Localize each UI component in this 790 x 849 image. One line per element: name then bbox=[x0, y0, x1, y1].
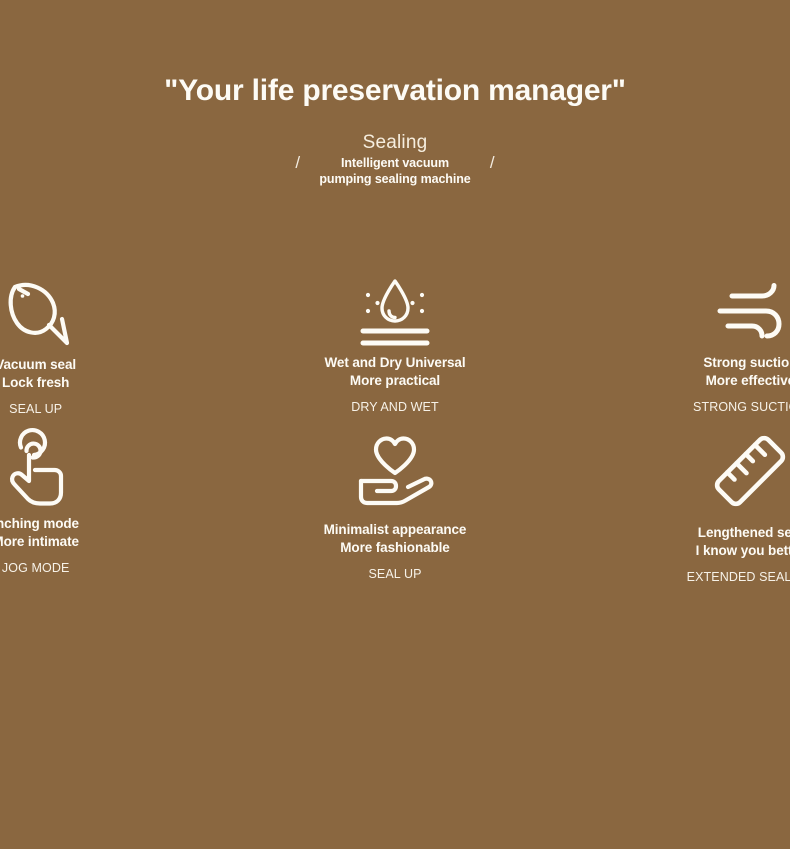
heart-in-hand-icon bbox=[351, 427, 439, 515]
fish-icon bbox=[0, 268, 80, 356]
feature-subtitle: EXTENDED SEALING bbox=[687, 570, 790, 585]
feature-item-lengthened-seal: Lengthened seal I know you better EXTEND… bbox=[619, 427, 790, 585]
feature-item-inching-mode: Inching mode More intimate JOG MODE bbox=[0, 427, 167, 585]
feature-title-line-1: Lengthened seal bbox=[698, 524, 790, 542]
water-droplet-icon bbox=[351, 268, 439, 356]
feature-item-vacuum-seal: Vacuum seal Lock fresh SEAL UP bbox=[0, 268, 167, 417]
feature-caption: Lengthened seal I know you better EXTEND… bbox=[687, 524, 790, 585]
feature-title-line-2: More effective bbox=[706, 372, 790, 390]
subtitle-block: / Sealing Intelligent vacuum pumping sea… bbox=[273, 131, 516, 188]
feature-title-line-1: Wet and Dry Universal bbox=[325, 354, 466, 372]
feature-caption: Vacuum seal Lock fresh SEAL UP bbox=[0, 356, 76, 417]
feature-caption: Wet and Dry Universal More practical DRY… bbox=[325, 354, 466, 415]
sealing-word: Sealing bbox=[319, 131, 470, 155]
feature-subtitle: SEAL UP bbox=[9, 402, 62, 417]
feature-title-line-2: More fashionable bbox=[340, 539, 449, 557]
feature-title-line-1: Minimalist appearance bbox=[324, 521, 467, 539]
feature-subtitle: SEAL UP bbox=[368, 567, 421, 582]
ruler-icon bbox=[706, 427, 790, 515]
feature-row-1: Vacuum seal Lock fresh SEAL UP bbox=[0, 268, 790, 417]
feature-title-line-1: Inching mode bbox=[0, 515, 79, 533]
feature-title-line-2: Lock fresh bbox=[2, 374, 69, 392]
feature-grid: Vacuum seal Lock fresh SEAL UP bbox=[0, 268, 790, 585]
page-title: "Your life preservation manager" bbox=[0, 0, 790, 107]
subtitle-lines: Intelligent vacuum pumping sealing machi… bbox=[319, 156, 470, 188]
wind-icon bbox=[706, 268, 790, 356]
feature-row-2: Inching mode More intimate JOG MODE Mini… bbox=[0, 427, 790, 585]
feature-item-minimalist: Minimalist appearance More fashionable S… bbox=[263, 427, 526, 585]
feature-subtitle: STRONG SUCTION bbox=[693, 400, 790, 415]
feature-title-line-2: More intimate bbox=[0, 533, 79, 551]
feature-title-line-2: I know you better bbox=[696, 542, 790, 560]
feature-item-strong-suction: Strong suction More effective STRONG SUC… bbox=[619, 268, 790, 417]
slash-right-decoration: / bbox=[490, 153, 495, 173]
slash-left-decoration: / bbox=[295, 153, 300, 173]
feature-item-wet-dry: Wet and Dry Universal More practical DRY… bbox=[263, 268, 526, 417]
subtitle-line-1: Intelligent vacuum bbox=[319, 156, 470, 172]
tap-gesture-icon bbox=[0, 427, 80, 515]
feature-caption: Inching mode More intimate JOG MODE bbox=[0, 515, 79, 576]
feature-title-line-1: Vacuum seal bbox=[0, 356, 76, 374]
feature-title-line-1: Strong suction bbox=[703, 354, 790, 372]
page-header: "Your life preservation manager" / Seali… bbox=[0, 0, 790, 188]
subtitle-line-2: pumping sealing machine bbox=[319, 172, 470, 188]
feature-subtitle: DRY AND WET bbox=[351, 400, 438, 415]
feature-title-line-2: More practical bbox=[350, 372, 440, 390]
feature-caption: Strong suction More effective STRONG SUC… bbox=[693, 354, 790, 415]
feature-caption: Minimalist appearance More fashionable S… bbox=[324, 521, 467, 582]
feature-subtitle: JOG MODE bbox=[2, 561, 69, 576]
